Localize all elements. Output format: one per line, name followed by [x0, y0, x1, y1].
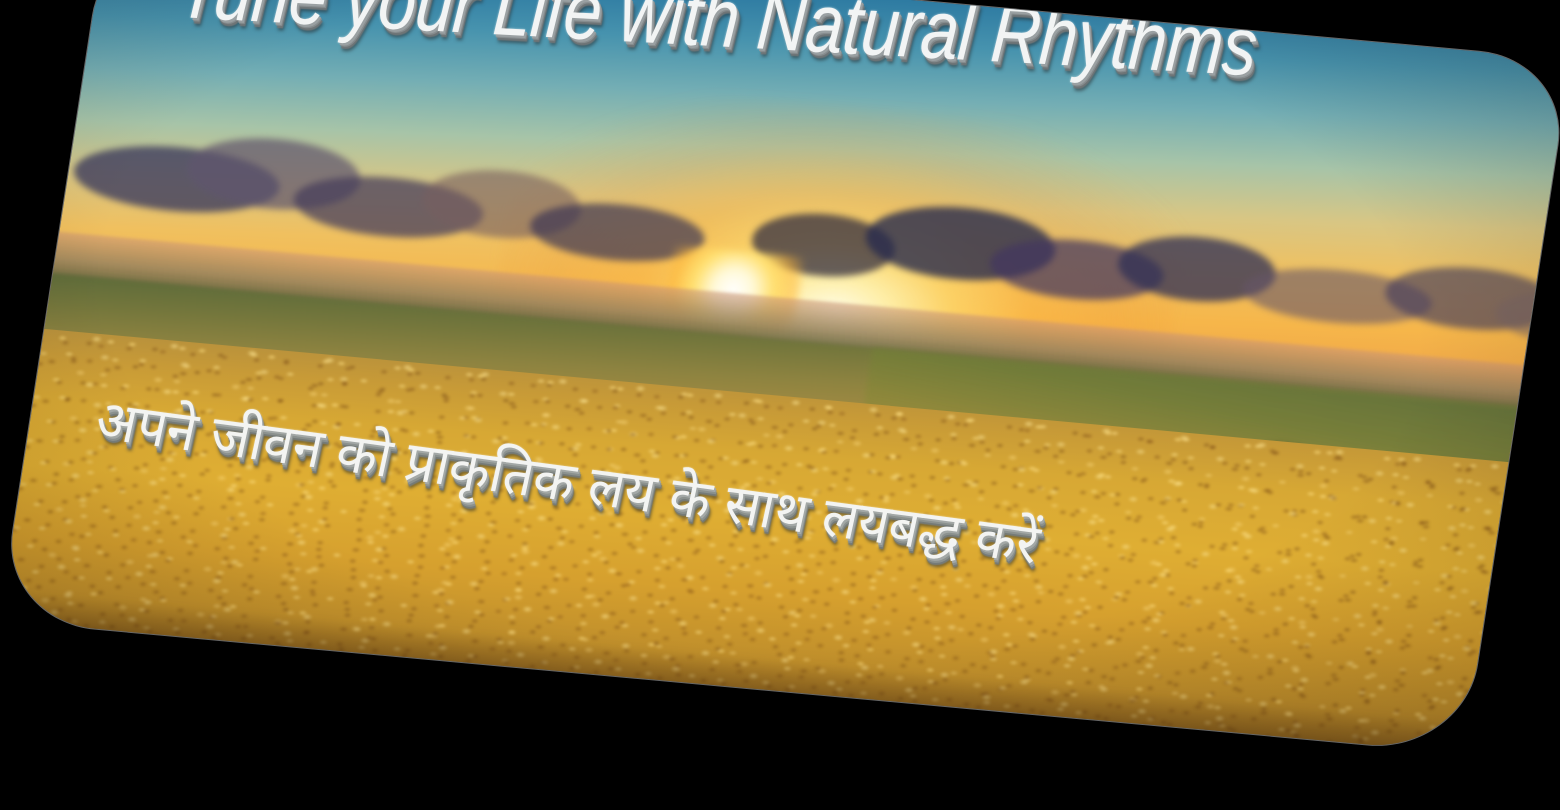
poster-canvas: Tune your Life with Natural Rhythms अपने…	[0, 0, 1560, 810]
poster-card: Tune your Life with Natural Rhythms अपने…	[0, 0, 1560, 753]
background-photo	[0, 0, 1560, 753]
tilted-card-wrapper: Tune your Life with Natural Rhythms अपने…	[0, 0, 1560, 753]
vignette	[0, 0, 1560, 753]
